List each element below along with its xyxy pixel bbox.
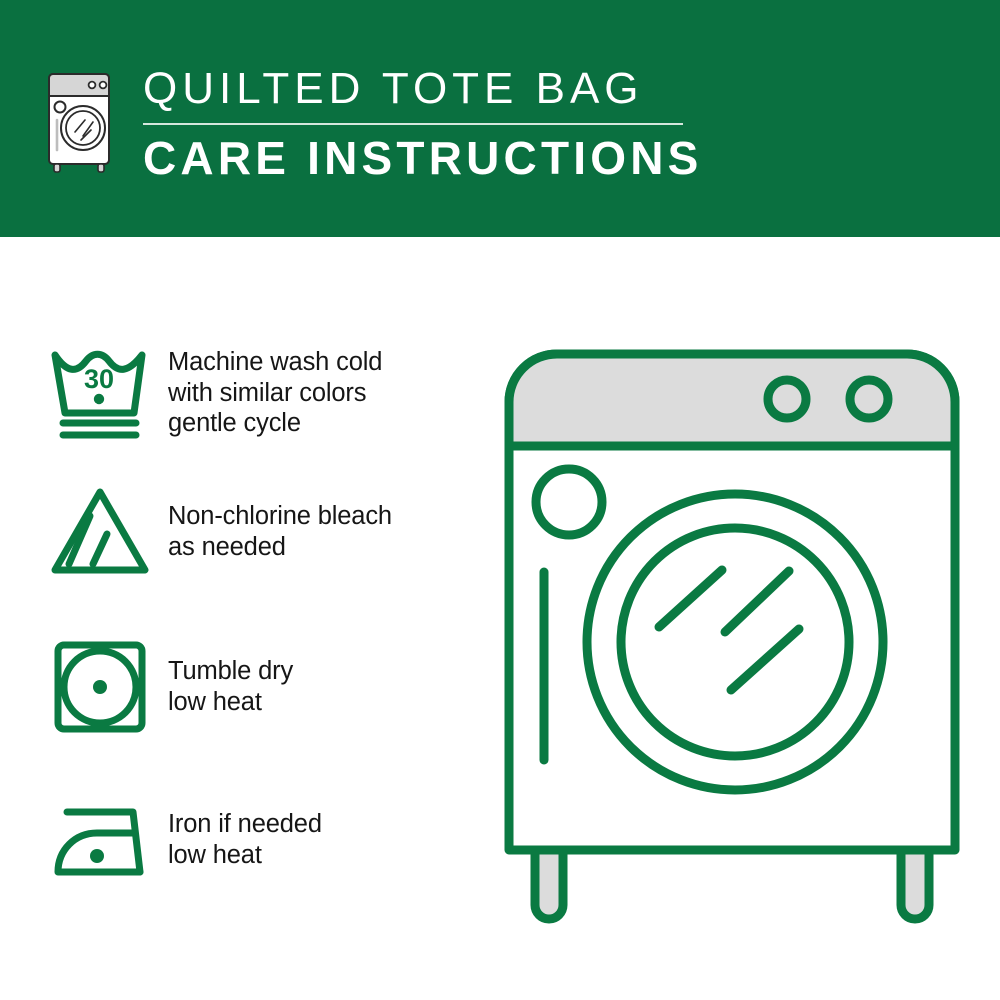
machine-wash-30-gentle-symbol: 30 bbox=[45, 338, 155, 448]
care-row-label: Non-chlorine bleach as needed bbox=[168, 501, 392, 562]
care-row: Iron if needed low heat bbox=[0, 785, 470, 895]
title-divider bbox=[143, 123, 683, 125]
tumble-dry-low-heat-symbol bbox=[45, 632, 155, 742]
non-chlorine-bleach-symbol bbox=[45, 477, 155, 587]
care-instructions-infographic: QUILTED TOTE BAG CARE INSTRUCTIONS 30 bbox=[0, 0, 1000, 1000]
header-title-group: QUILTED TOTE BAG CARE INSTRUCTIONS bbox=[143, 66, 703, 181]
washer-knob-left bbox=[768, 380, 806, 418]
page-subtitle: CARE INSTRUCTIONS bbox=[143, 135, 703, 181]
page-title: QUILTED TOTE BAG bbox=[143, 66, 703, 112]
washer-indicator-button bbox=[536, 469, 602, 535]
care-row-label: Iron if needed low heat bbox=[168, 809, 322, 870]
washer-leg-right bbox=[901, 850, 929, 919]
iron-low-heat-symbol bbox=[45, 785, 155, 895]
care-row: Non-chlorine bleach as needed bbox=[0, 477, 470, 587]
washer-door-inner bbox=[621, 528, 849, 756]
washing-machine-icon bbox=[45, 70, 113, 175]
care-row-label: Machine wash cold with similar colors ge… bbox=[168, 347, 382, 439]
care-row-label: Tumble dry low heat bbox=[168, 656, 293, 717]
care-instruction-list: 30 Machine wash cold with similar colors… bbox=[0, 237, 470, 1000]
wash-temperature-value: 30 bbox=[84, 364, 114, 394]
washer-leg-left bbox=[535, 850, 563, 919]
front-load-washing-machine-illustration bbox=[487, 330, 977, 930]
care-row: 30 Machine wash cold with similar colors… bbox=[0, 338, 470, 448]
care-row: Tumble dry low heat bbox=[0, 632, 470, 742]
header-banner: QUILTED TOTE BAG CARE INSTRUCTIONS bbox=[0, 0, 1000, 237]
washer-knob-right bbox=[850, 380, 888, 418]
